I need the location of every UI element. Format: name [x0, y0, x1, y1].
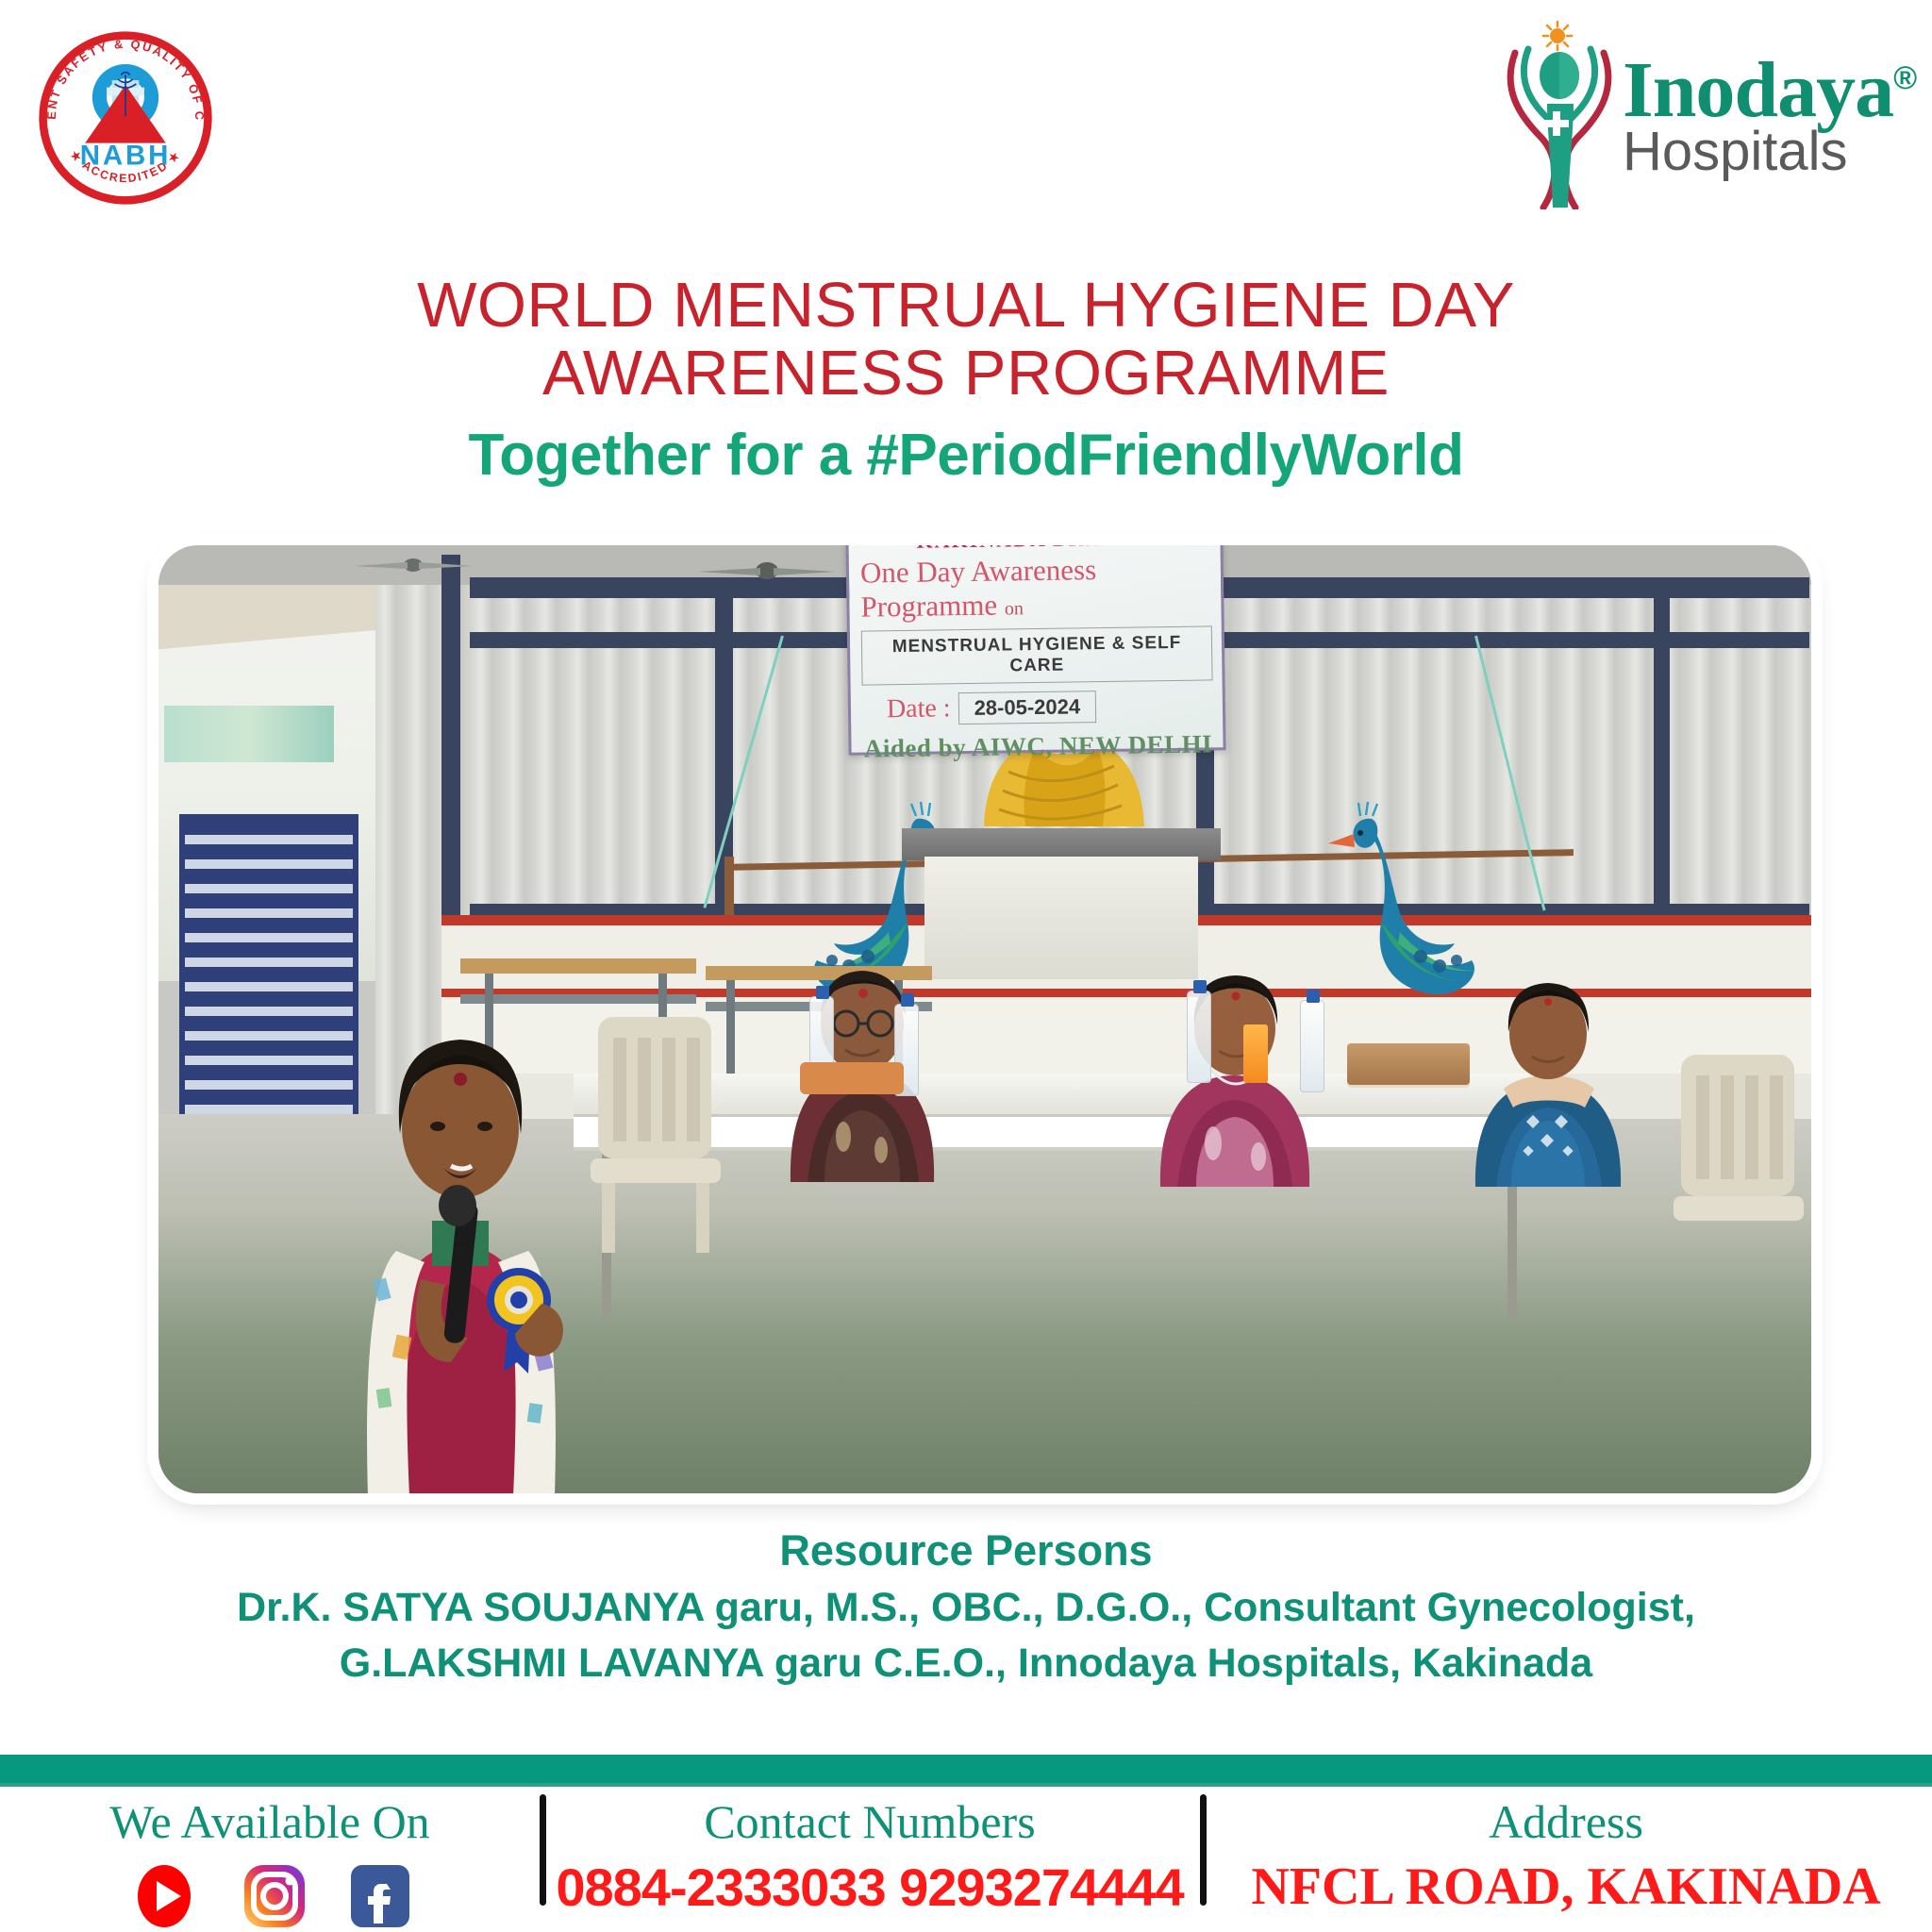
photo-water-bottle	[1300, 1000, 1324, 1092]
registered-mark: ®	[1893, 60, 1916, 96]
event-photo-scene: KAKINADA BRANCH One Day Awareness Progra…	[158, 545, 1811, 1493]
inodaya-brand-logo: Inodaya® Hospitals	[1498, 21, 1894, 209]
banner-headline: One Day Awareness Programme on	[860, 551, 1212, 624]
footer-divider-right	[1200, 1794, 1207, 1906]
footer-address-column: Address NFCL ROAD, KAKINADA	[1200, 1789, 1932, 1932]
poster-root: PATIENT SAFETY & QUALITY OF CARE ★ ACCRE…	[0, 0, 1932, 1932]
photo-background-banner	[164, 706, 334, 762]
photo-plastic-chair	[1668, 1055, 1809, 1291]
photo-rusted-rail	[724, 857, 734, 919]
address-value: NFCL ROAD, KAKINADA	[1251, 1857, 1880, 1917]
title-line-1: WORLD MENSTRUAL HYGIENE DAY	[0, 272, 1932, 340]
social-icon-row	[128, 1860, 411, 1932]
photo-panelist-1	[734, 937, 989, 1182]
event-photo: KAKINADA BRANCH One Day Awareness Progra…	[158, 545, 1811, 1493]
banner-date-value: 28-05-2024	[958, 691, 1096, 724]
photo-event-banner: KAKINADA BRANCH One Day Awareness Progra…	[845, 545, 1225, 756]
contact-numbers[interactable]: 0884-2333033 9293274444	[556, 1857, 1183, 1918]
footer-social-column: We Available On	[0, 1789, 540, 1932]
youtube-icon[interactable]	[128, 1860, 200, 1932]
instagram-icon[interactable]	[241, 1861, 308, 1932]
banner-aided-by: Aided by AIWC, NEW DELHI	[862, 729, 1213, 763]
photo-column	[1654, 577, 1670, 917]
footer-divider-left	[540, 1794, 546, 1906]
banner-date-label: Date :	[887, 693, 951, 724]
photo-juice-carton	[1243, 1024, 1268, 1083]
photo-handbag	[800, 1062, 904, 1094]
banner-topic: MENSTRUAL HYGIENE & SELF CARE	[866, 632, 1208, 678]
resource-persons-heading: Resource Persons	[0, 1526, 1932, 1575]
facebook-icon[interactable]	[349, 1861, 411, 1932]
banner-date-row: Date : 28-05-2024	[862, 689, 1213, 725]
title-block: WORLD MENSTRUAL HYGIENE DAY AWARENESS PR…	[0, 272, 1932, 489]
footer-divider-bar	[0, 1755, 1932, 1787]
svg-text:NABH: NABH	[80, 140, 171, 171]
photo-register-book	[1347, 1043, 1470, 1085]
brand-name: Inodaya®	[1623, 51, 1916, 130]
photo-speaker	[309, 968, 611, 1493]
inodaya-figure-icon	[1498, 21, 1621, 209]
nabh-accreditation-logo: PATIENT SAFETY & QUALITY OF CARE ★ ACCRE…	[36, 28, 215, 208]
photo-panelist-2	[1102, 941, 1366, 1187]
photo-water-bottle	[1187, 991, 1211, 1083]
photo-bust-plinth-top	[902, 828, 1221, 860]
nabh-logo-svg: PATIENT SAFETY & QUALITY OF CARE ★ ACCRE…	[36, 28, 215, 208]
title-line-2: AWARENESS PROGRAMME	[0, 340, 1932, 408]
social-heading: We Available On	[109, 1794, 429, 1849]
address-heading: Address	[1489, 1794, 1643, 1849]
footer-contact-column: Contact Numbers 0884-2333033 9293274444	[540, 1789, 1200, 1932]
footer: We Available On	[0, 1789, 1932, 1932]
banner-topic-box: MENSTRUAL HYGIENE & SELF CARE	[861, 625, 1213, 685]
resource-person-1: Dr.K. SATYA SOUJANYA garu, M.S., OBC., D…	[0, 1585, 1932, 1631]
photo-ceiling-fan	[687, 555, 847, 587]
resource-persons-block: Resource Persons Dr.K. SATYA SOUJANYA ga…	[0, 1526, 1932, 1687]
resource-person-2: G.LAKSHMI LAVANYA garu C.E.O., Innodaya …	[0, 1641, 1932, 1687]
photo-ceiling-fan	[347, 551, 479, 579]
title-tagline: Together for a #PeriodFriendlyWorld	[0, 422, 1932, 489]
contact-heading: Contact Numbers	[704, 1794, 1035, 1849]
